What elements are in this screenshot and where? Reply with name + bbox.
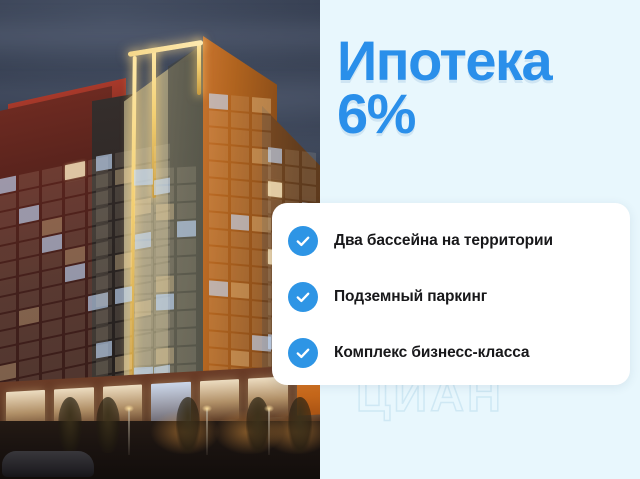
street-lamp (268, 409, 270, 455)
headline-mortgage-rate: Ипотека 6% (337, 34, 637, 140)
facade-light-strip (197, 41, 201, 95)
list-item: Комплекс бизнесс-класса (288, 333, 630, 373)
features-card: Два бассейна на территории Подземный пар… (272, 203, 630, 385)
tree (58, 397, 82, 453)
features-list: Два бассейна на территории Подземный пар… (272, 203, 630, 373)
advertisement-banner: Ипотека 6% ЦИАН Два бассейна на территор… (0, 0, 640, 479)
tree (288, 397, 312, 453)
cloud-band (0, 14, 320, 60)
check-circle-icon (288, 226, 318, 256)
feature-label: Комплекс бизнесс-класса (334, 344, 529, 362)
feature-label: Подземный паркинг (334, 288, 487, 306)
check-circle-icon (288, 338, 318, 368)
street-lamp (206, 409, 208, 455)
tree (176, 397, 200, 453)
feature-label: Два бассейна на территории (334, 232, 553, 250)
list-item: Два бассейна на территории (288, 221, 630, 261)
check-circle-icon (288, 282, 318, 312)
list-item: Подземный паркинг (288, 277, 630, 317)
street-lamp (128, 409, 130, 455)
tree (96, 397, 120, 453)
parked-car (2, 451, 94, 477)
